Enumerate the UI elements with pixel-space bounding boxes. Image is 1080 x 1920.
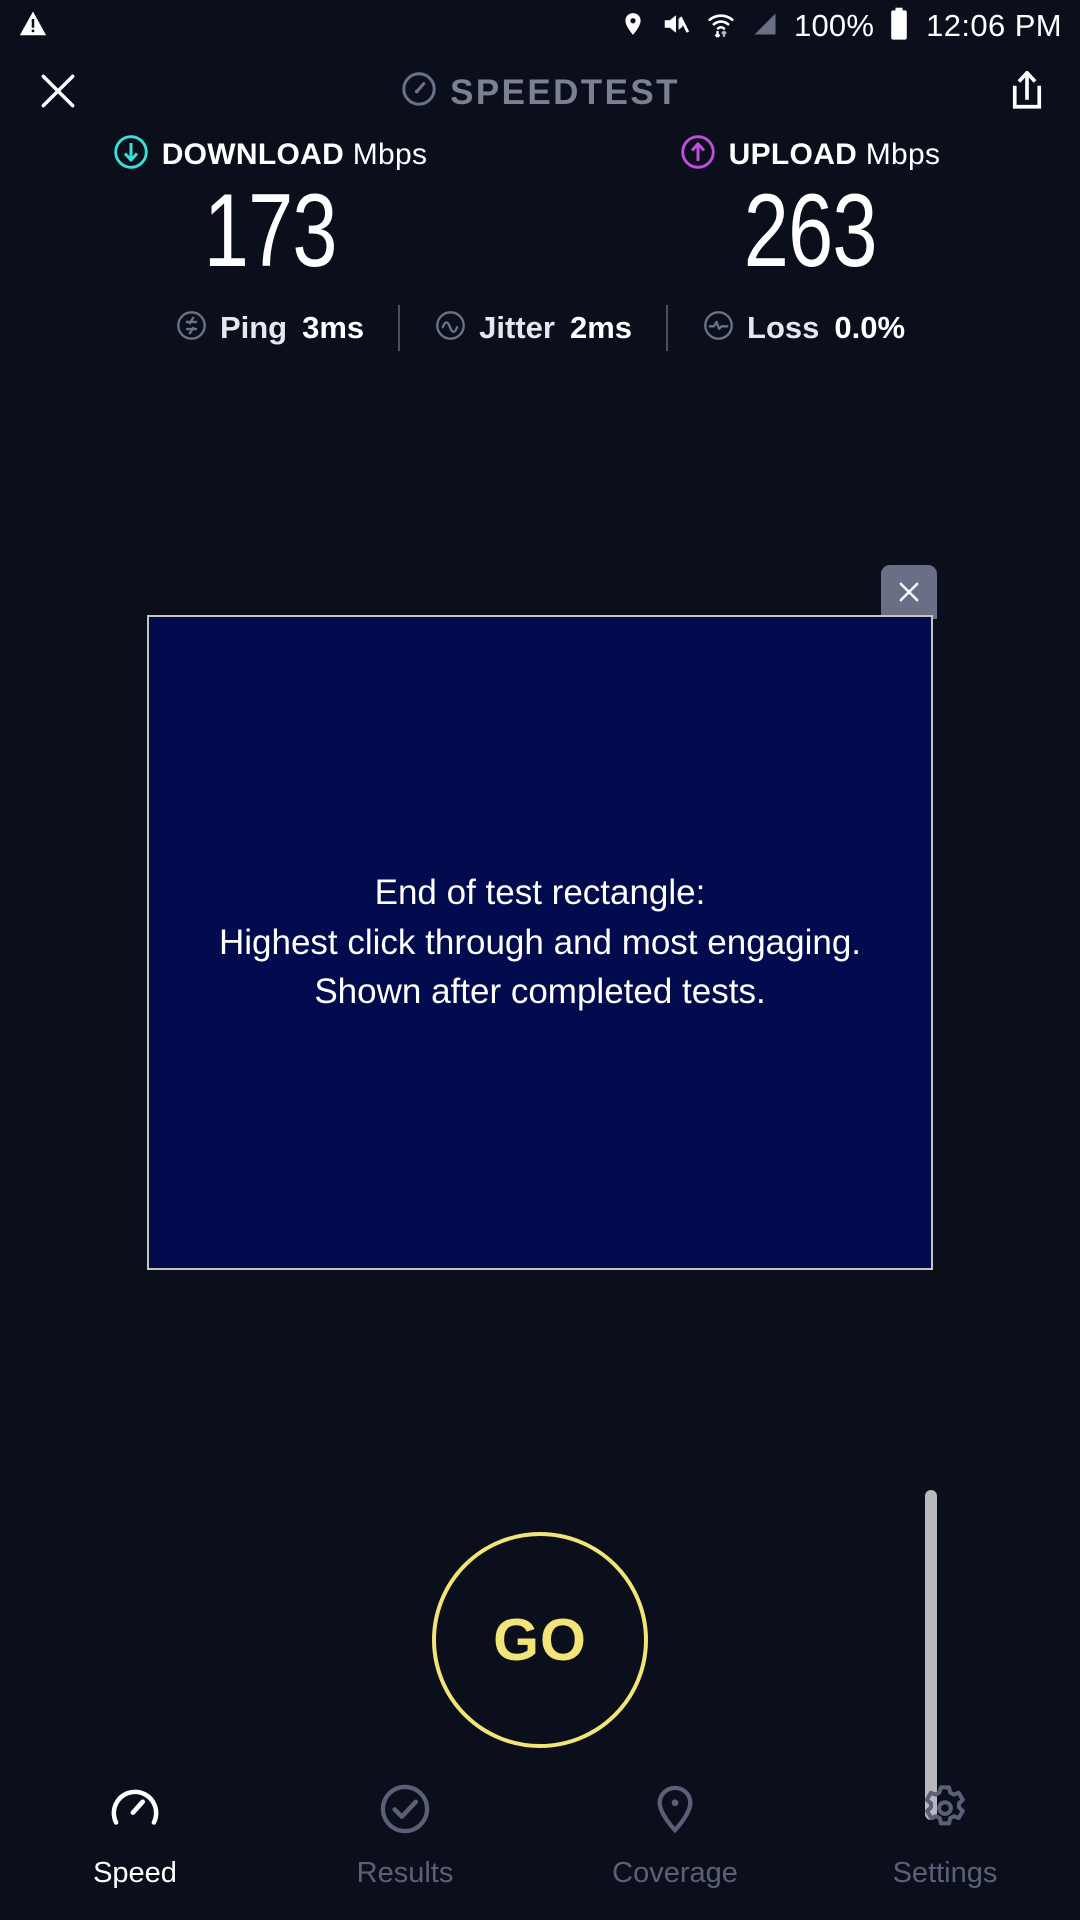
nav-item-results[interactable]: Results: [270, 1782, 540, 1890]
jitter-metric: Jitter 2ms: [434, 309, 632, 347]
status-bar: 100% 12:06 PM: [0, 0, 1080, 52]
nav-label-speed: Speed: [93, 1857, 177, 1890]
download-header: DOWNLOAD Mbps: [113, 134, 428, 175]
loss-label: Loss: [747, 310, 819, 346]
status-bar-right: 100% 12:06 PM: [620, 7, 1062, 46]
jitter-wave-icon: [434, 309, 467, 347]
cellular-signal-icon: [750, 10, 780, 43]
test-results-panel: DOWNLOAD Mbps 173 UP: [0, 134, 1080, 351]
download-metric: DOWNLOAD Mbps 173: [0, 134, 540, 283]
jitter-value: 2ms: [570, 310, 632, 346]
map-pin-icon: [648, 1782, 702, 1841]
loss-icon: [702, 309, 735, 347]
battery-percent-label: 100%: [794, 8, 874, 44]
volume-muted-icon: [660, 9, 692, 44]
ad-text: End of test rectangle: Highest click thr…: [207, 868, 873, 1017]
status-bar-left: [18, 9, 48, 44]
upload-metric: UPLOAD Mbps 263: [540, 134, 1080, 283]
ad-close-button[interactable]: [881, 565, 937, 619]
divider: [398, 305, 400, 351]
location-pin-icon: [620, 9, 646, 44]
jitter-label: Jitter: [479, 310, 555, 346]
speedometer-icon: [108, 1782, 162, 1841]
ping-value: 3ms: [302, 310, 364, 346]
download-arrow-icon: [113, 134, 149, 175]
ping-label: Ping: [220, 310, 287, 346]
nav-label-coverage: Coverage: [612, 1857, 738, 1890]
ad-close-x-icon: [895, 578, 923, 606]
gear-icon: [918, 1782, 972, 1841]
speedtest-app-screen: 100% 12:06 PM SPEEDTEST: [0, 0, 1080, 1920]
go-button[interactable]: GO: [432, 1532, 648, 1748]
page-title: SPEEDTEST: [450, 73, 680, 113]
nav-item-settings[interactable]: Settings: [810, 1782, 1080, 1890]
go-button-label: GO: [493, 1606, 587, 1674]
close-button[interactable]: [36, 69, 80, 118]
ad-banner[interactable]: End of test rectangle: Highest click thr…: [147, 615, 933, 1270]
clock-label: 12:06 PM: [926, 8, 1062, 44]
check-circle-icon: [378, 1782, 432, 1841]
ping-metric: Ping 3ms: [175, 309, 364, 347]
download-upload-row: DOWNLOAD Mbps 173 UP: [0, 134, 1080, 283]
wifi-transfer-icon: [706, 9, 736, 44]
battery-full-icon: [888, 7, 910, 46]
upload-value: 263: [743, 179, 876, 283]
upload-arrow-icon: [680, 134, 716, 175]
download-label: DOWNLOAD Mbps: [162, 138, 428, 172]
app-header: SPEEDTEST: [0, 52, 1080, 134]
share-button[interactable]: [1006, 68, 1048, 119]
speedtest-gauge-icon: [400, 70, 438, 117]
download-value: 173: [203, 179, 336, 283]
nav-label-results: Results: [357, 1857, 454, 1890]
upload-header: UPLOAD Mbps: [680, 134, 941, 175]
warning-triangle-icon: [18, 9, 48, 44]
bottom-navigation: Speed Results Coverage: [0, 1760, 1080, 1920]
loss-metric: Loss 0.0%: [702, 309, 905, 347]
app-title-group: SPEEDTEST: [0, 70, 1080, 117]
nav-item-coverage[interactable]: Coverage: [540, 1782, 810, 1890]
loss-value: 0.0%: [834, 310, 905, 346]
nav-label-settings: Settings: [893, 1857, 998, 1890]
ping-jitter-loss-row: Ping 3ms Jitter 2ms: [0, 305, 1080, 351]
ping-icon: [175, 309, 208, 347]
upload-label: UPLOAD Mbps: [729, 138, 941, 172]
divider: [666, 305, 668, 351]
nav-item-speed[interactable]: Speed: [0, 1782, 270, 1890]
